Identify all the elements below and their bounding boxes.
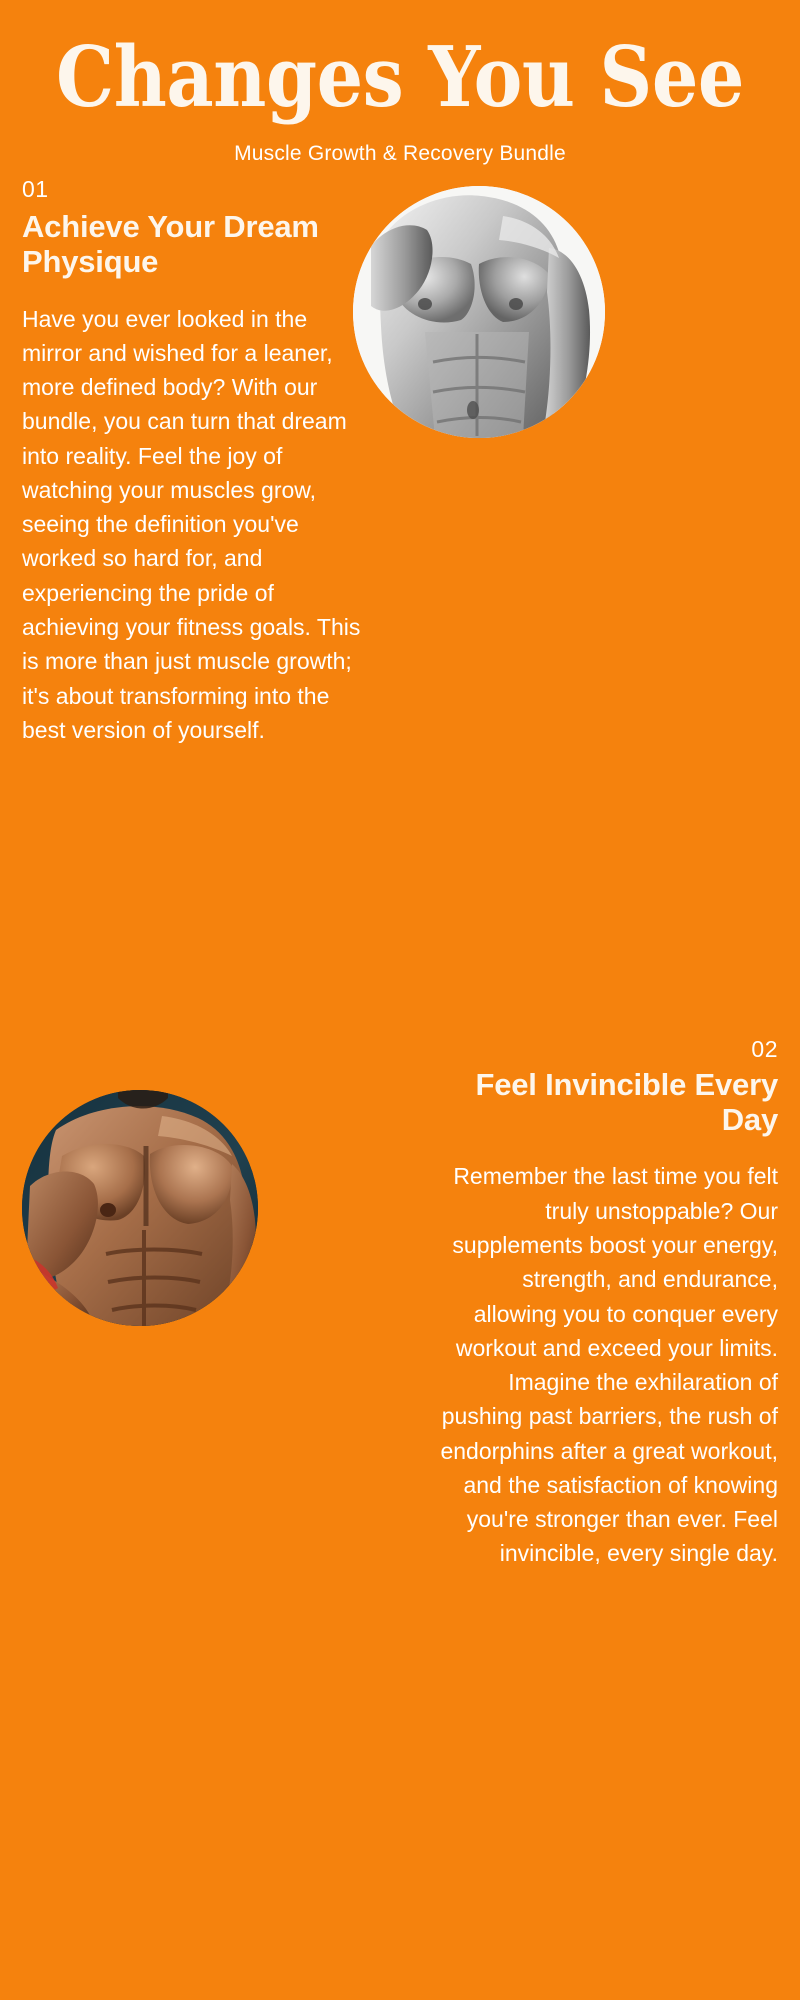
torso-illustration xyxy=(353,186,605,438)
section-number-01: 01 xyxy=(22,178,49,201)
page-title: Changes You See xyxy=(48,36,752,119)
section-02-body: Remember the last time you felt truly un… xyxy=(438,1159,778,1570)
section-02-heading: Feel Invincible Every Day xyxy=(438,1068,778,1137)
color-bodybuilder-photo xyxy=(22,1090,258,1326)
poster-canvas: Changes You See Muscle Growth & Recovery… xyxy=(0,0,800,2000)
poster-subtitle: Muscle Growth & Recovery Bundle xyxy=(0,141,800,166)
section-01-heading: Achieve Your Dream Physique xyxy=(22,210,362,279)
poster-header: Changes You See Muscle Growth & Recovery… xyxy=(0,0,800,166)
bodybuilder-illustration xyxy=(22,1090,258,1326)
section-01-text-block: Achieve Your Dream Physique Have you eve… xyxy=(22,210,362,747)
section-01-body: Have you ever looked in the mirror and w… xyxy=(22,302,362,747)
section-number-02: 02 xyxy=(751,1038,778,1061)
grayscale-male-torso-photo xyxy=(353,186,605,438)
section-02-text-block: Feel Invincible Every Day Remember the l… xyxy=(438,1068,778,1571)
